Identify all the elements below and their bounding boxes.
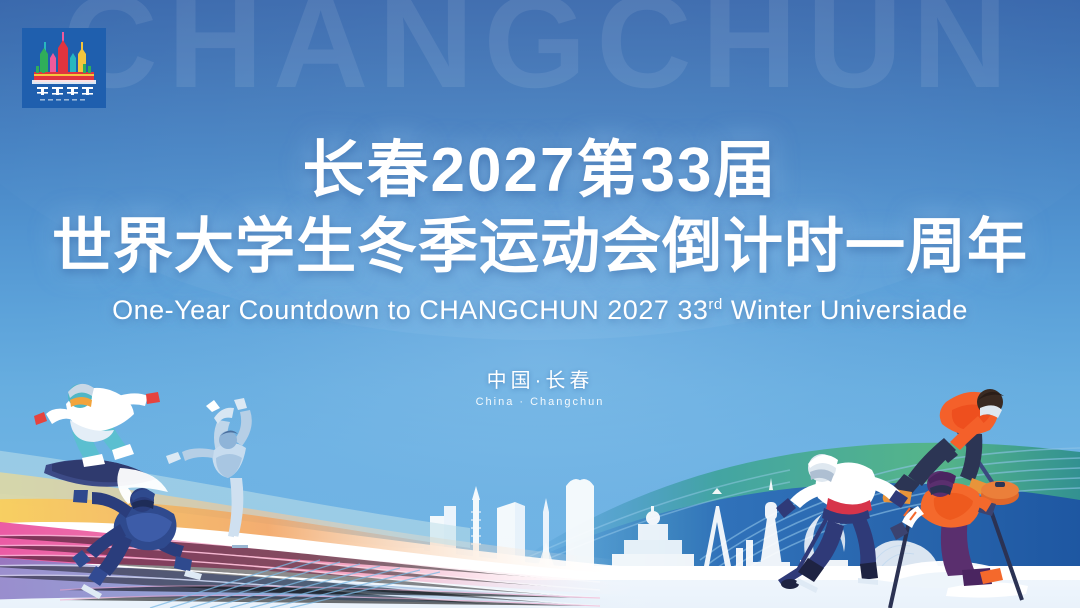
- scenery-layer: [0, 0, 1080, 608]
- poster-root: CHANGCHUN: [0, 0, 1080, 608]
